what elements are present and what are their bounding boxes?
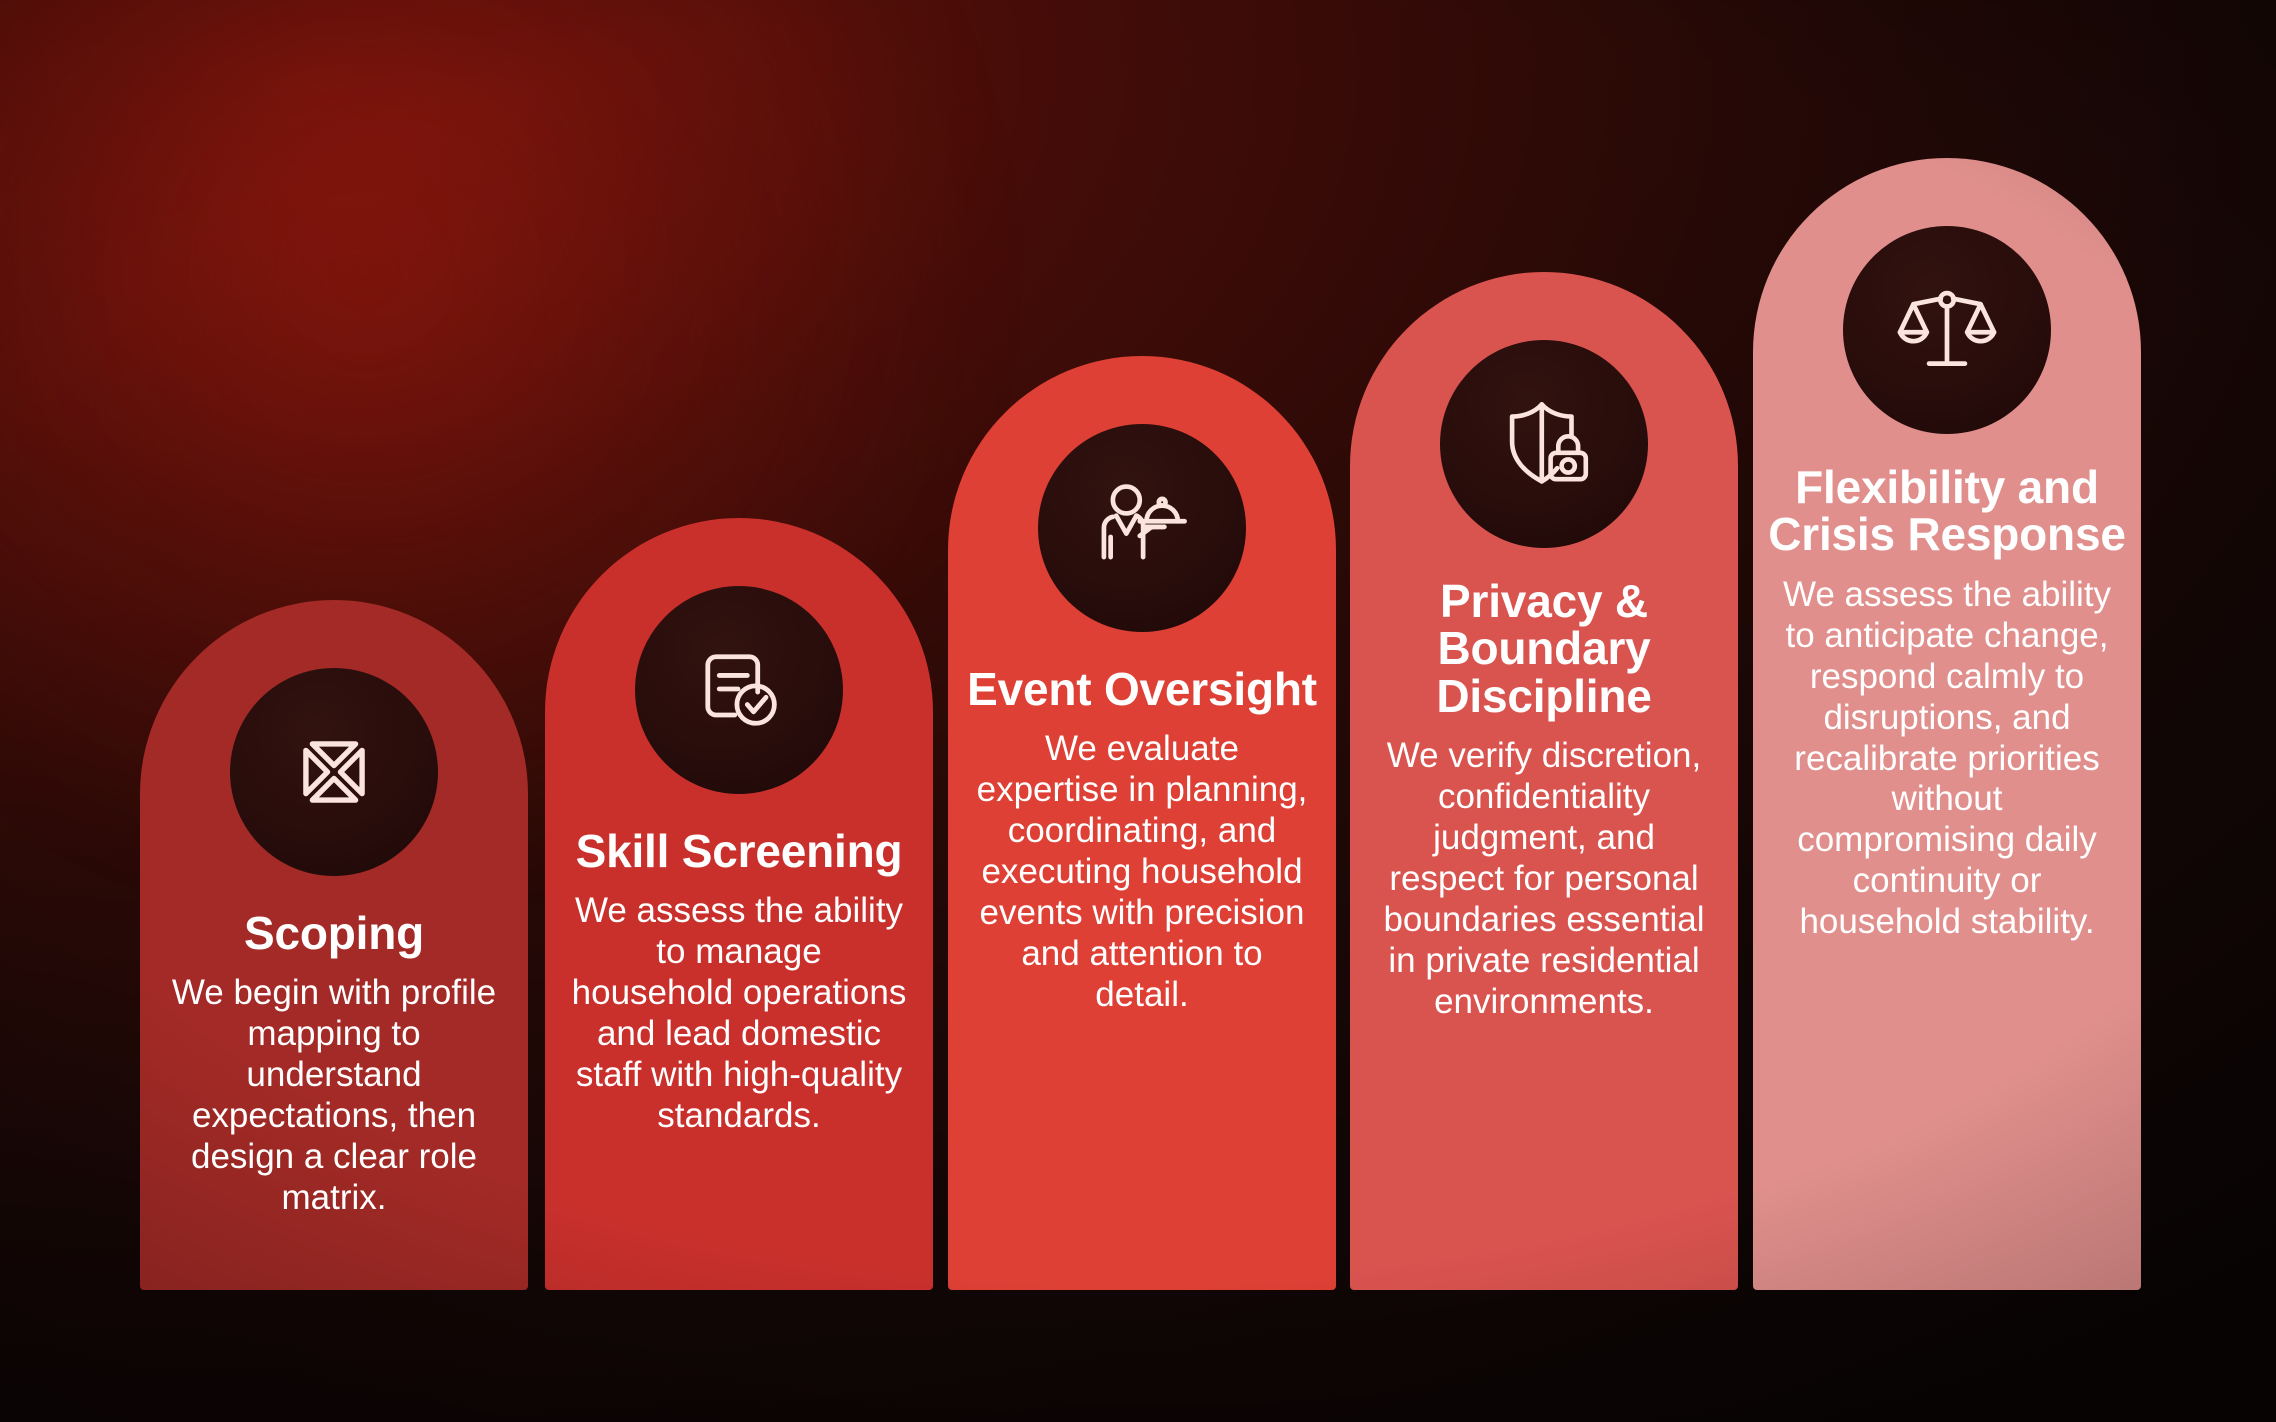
infographic-background: Scoping We begin with profile mapping to… xyxy=(0,0,2276,1422)
icon-well xyxy=(635,586,843,794)
butler-tray-icon xyxy=(1086,472,1198,584)
card-title: Skill Screening xyxy=(566,828,913,875)
icon-well xyxy=(1843,226,2051,434)
card-description: We assess the ability to anticipate chan… xyxy=(1753,575,2141,943)
step-card-privacy-boundary-discipline[interactable]: Privacy & Boundary Discipline We verify … xyxy=(1350,272,1738,1290)
icon-well xyxy=(1038,424,1246,632)
balance-scales-icon xyxy=(1891,274,2003,386)
card-description: We begin with profile mapping to underst… xyxy=(140,973,528,1219)
step-card-flexibility-crisis-response[interactable]: Flexibility and Crisis Response We asses… xyxy=(1753,158,2141,1290)
step-card-event-oversight[interactable]: Event Oversight We evaluate expertise in… xyxy=(948,356,1336,1290)
icon-well xyxy=(1440,340,1648,548)
card-title: Event Oversight xyxy=(957,666,1327,713)
step-card-skill-screening[interactable]: Skill Screening We assess the ability to… xyxy=(545,518,933,1290)
card-title: Privacy & Boundary Discipline xyxy=(1350,578,1738,720)
step-card-scoping[interactable]: Scoping We begin with profile mapping to… xyxy=(140,600,528,1290)
step-card-group: Scoping We begin with profile mapping to… xyxy=(0,0,2276,1422)
card-title: Scoping xyxy=(234,910,434,957)
card-description: We evaluate expertise in planning, coord… xyxy=(948,729,1336,1016)
card-description: We assess the ability to manage househol… xyxy=(545,891,933,1137)
card-title: Flexibility and Crisis Response xyxy=(1753,464,2141,559)
document-check-icon xyxy=(687,638,791,742)
shield-lock-icon xyxy=(1489,389,1599,499)
icon-well xyxy=(230,668,438,876)
card-description: We verify discretion, confidentiality ju… xyxy=(1350,736,1738,1023)
expand-arrows-icon xyxy=(280,718,388,826)
